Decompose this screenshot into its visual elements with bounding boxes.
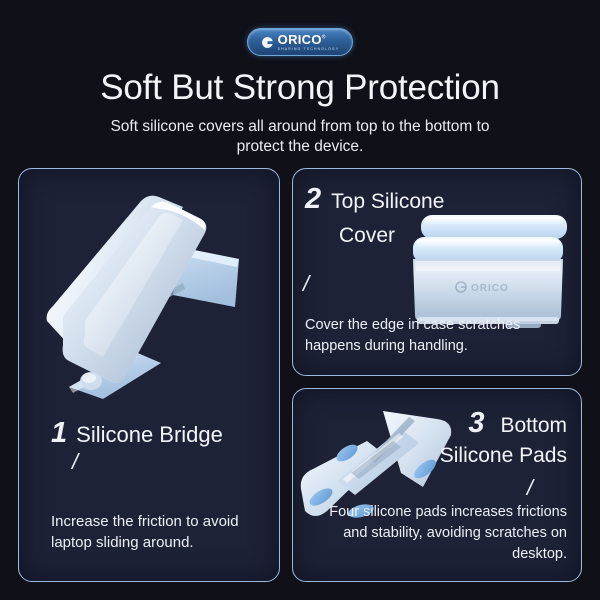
svg-text:ORICO: ORICO bbox=[471, 283, 509, 294]
brand-logo-text: ORICO® SHARING TECHNOLOGY bbox=[278, 33, 340, 51]
registered-mark: ® bbox=[322, 35, 326, 41]
step-3-number: 3 bbox=[468, 407, 484, 440]
step-2-number: 2 bbox=[305, 183, 321, 216]
silicone-bridge-photo bbox=[33, 175, 273, 415]
step-2-divider: / bbox=[303, 273, 309, 295]
step-3-label-line2: Silicone Pads bbox=[440, 444, 567, 468]
orico-g-mark-icon bbox=[261, 36, 274, 49]
step-1-divider: / bbox=[72, 451, 78, 473]
step-3-label-line1: Bottom bbox=[500, 414, 567, 438]
step-1-label: Silicone Bridge bbox=[76, 422, 223, 448]
step-3-description: Four silicone pads increases frictions a… bbox=[307, 502, 567, 565]
infographic-page: ORICO® SHARING TECHNOLOGY Soft But Stron… bbox=[0, 0, 600, 600]
step-3-divider: / bbox=[527, 477, 533, 499]
page-subtitle: Soft silicone covers all around from top… bbox=[96, 117, 504, 157]
brand-logo: ORICO® SHARING TECHNOLOGY bbox=[247, 28, 353, 56]
page-title: Soft But Strong Protection bbox=[0, 68, 600, 108]
step-1-heading: 1 Silicone Bridge bbox=[51, 417, 223, 450]
step-2-heading: 2 Top Silicone Cover bbox=[305, 183, 505, 248]
step-1-description: Increase the friction to avoid laptop sl… bbox=[51, 511, 266, 553]
panel-top-silicone-cover: ORICO 2 Top Silicone Cover / Cover the e… bbox=[292, 168, 582, 376]
panel-silicone-bridge: 1 Silicone Bridge / Increase the frictio… bbox=[18, 168, 280, 582]
step-2-label-line1: Top Silicone bbox=[331, 190, 444, 214]
brand-name: ORICO bbox=[278, 32, 322, 47]
step-3-heading: 3 Bottom Silicone Pads bbox=[440, 407, 567, 468]
step-1-number: 1 bbox=[51, 417, 67, 450]
step-2-description: Cover the edge in case scratches happens… bbox=[305, 315, 573, 357]
brand-tagline: SHARING TECHNOLOGY bbox=[278, 48, 340, 51]
panel-bottom-silicone-pads: 3 Bottom Silicone Pads / Four silicone p… bbox=[292, 388, 582, 582]
step-2-label-line2: Cover bbox=[305, 224, 505, 248]
